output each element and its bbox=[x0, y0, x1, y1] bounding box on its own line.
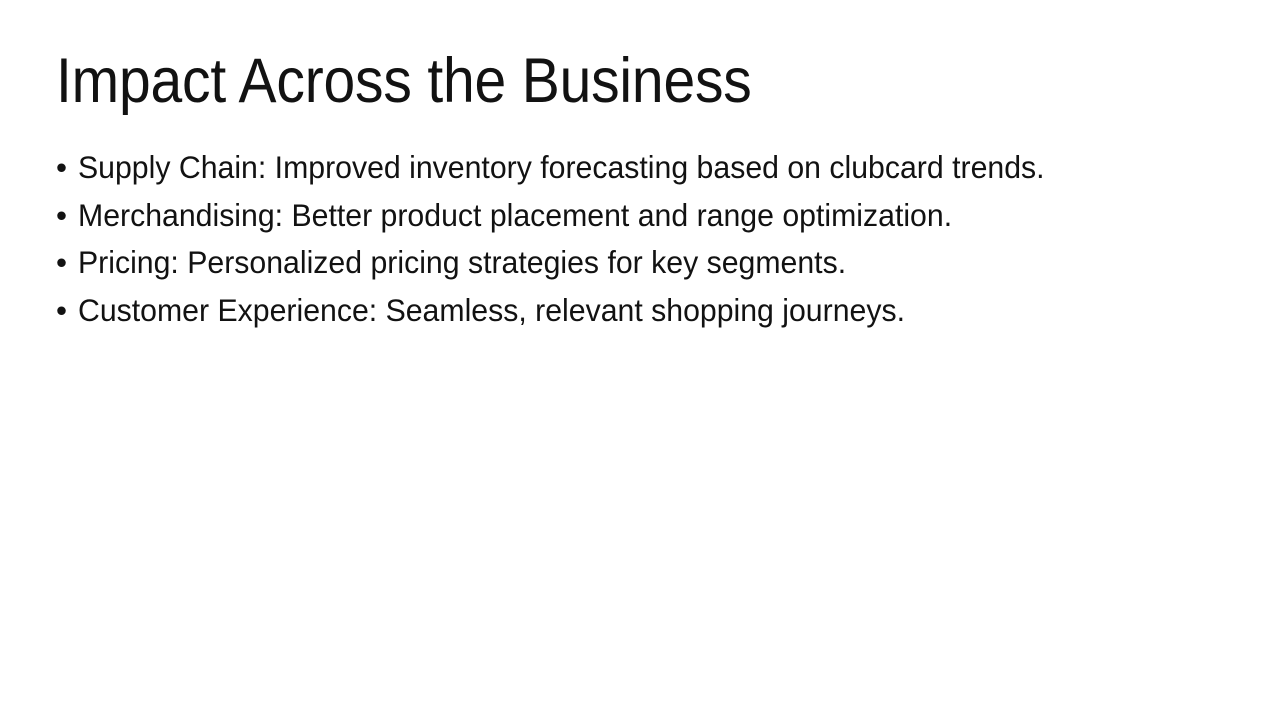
bullet-item-supply-chain: • Supply Chain: Improved inventory forec… bbox=[56, 144, 1246, 192]
bullet-point-icon: • bbox=[56, 144, 78, 192]
bullet-item-pricing: • Pricing: Personalized pricing strategi… bbox=[56, 239, 1246, 287]
bullet-item-customer-experience: • Customer Experience: Seamless, relevan… bbox=[56, 287, 1246, 335]
bullet-item-text: Merchandising: Better product placement … bbox=[78, 192, 952, 240]
bullet-item-merchandising: • Merchandising: Better product placemen… bbox=[56, 192, 1246, 240]
bullet-item-text: Supply Chain: Improved inventory forecas… bbox=[78, 144, 1045, 192]
bullet-point-icon: • bbox=[56, 192, 78, 240]
bullet-point-icon: • bbox=[56, 287, 78, 335]
presentation-slide: Impact Across the Business • Supply Chai… bbox=[0, 0, 1280, 720]
bullet-item-text: Pricing: Personalized pricing strategies… bbox=[78, 239, 846, 287]
slide-title: Impact Across the Business bbox=[56, 50, 1115, 113]
bullet-point-icon: • bbox=[56, 239, 78, 287]
bullet-item-text: Customer Experience: Seamless, relevant … bbox=[78, 287, 905, 335]
bullet-list: • Supply Chain: Improved inventory forec… bbox=[56, 144, 1246, 334]
